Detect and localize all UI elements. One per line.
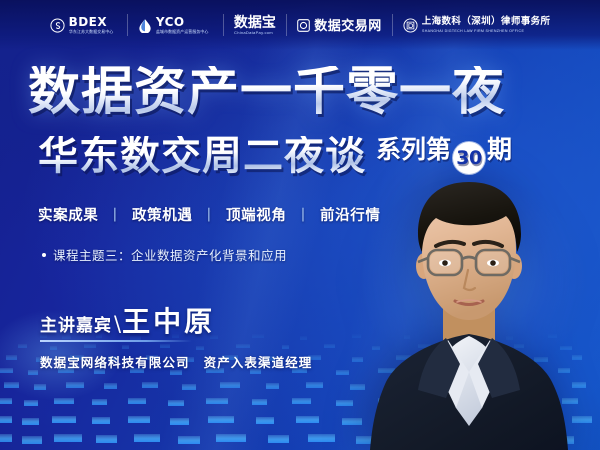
tag-item: 顶端视角	[226, 204, 286, 225]
shujubao-wordmark-icon: 数据宝	[234, 15, 276, 29]
poster-subheadline: 华东数交周二夜谈 系列第30期	[38, 136, 512, 176]
speaker-divider	[40, 340, 192, 342]
topic-tag-list: 实案成果 丨 政策机遇 丨 顶端视角 丨 前沿行情	[38, 204, 380, 225]
course-topic: 课程主题三：企业数据资产化背景和应用	[42, 245, 287, 264]
speaker-name: 王中原	[122, 300, 215, 340]
speaker-block: 主讲嘉宾 \ 王中原	[40, 300, 215, 340]
series-suffix: 期	[487, 135, 512, 164]
bullet-dot-icon	[42, 253, 46, 257]
tag-item: 政策机遇	[132, 204, 192, 225]
tag-item: 前沿行情	[320, 204, 380, 225]
logo-shujubao: 数据宝 ChinaDataPay.com	[224, 8, 286, 42]
webinar-poster: BDEX 华东江苏大数据交易中心 YCO 盐城市数据资产运营服务中心 数据宝 C…	[0, 0, 600, 450]
logo-bdex-name: BDEX	[69, 16, 117, 28]
partner-logo-bar: BDEX 华东江苏大数据交易中心 YCO 盐城市数据资产运营服务中心 数据宝 C…	[0, 0, 600, 50]
logo-law-firm-sub: SHANGHAI DIGTECH LAW FIRM SHENZHEN OFFIC…	[422, 29, 540, 33]
tag-item: 实案成果	[38, 204, 98, 225]
logo-bdex: BDEX 华东江苏大数据交易中心	[40, 8, 127, 42]
speaker-role: 资产入表渠道经理	[204, 355, 313, 370]
episode-number-badge: 30	[453, 142, 485, 174]
logo-yco: YCO 盐城市数据资产运营服务中心	[128, 8, 223, 42]
speaker-company: 数据宝网络科技有限公司	[40, 355, 190, 370]
series-label: 系列第30期	[376, 137, 512, 177]
yco-droplet-logo-icon	[138, 18, 152, 33]
tag-separator: 丨	[107, 204, 123, 225]
poster-headline: 数据资产一千零一夜	[28, 66, 505, 118]
logo-bdex-sub: 华东江苏大数据交易中心	[69, 30, 113, 34]
speaker-portrait	[360, 158, 578, 450]
digtech-law-firm-icon	[403, 18, 418, 33]
course-topic-text: 课程主题三：企业数据资产化背景和应用	[53, 245, 287, 264]
logo-yco-sub: 盐城市数据资产运营服务中心	[156, 30, 208, 34]
logo-data-exchange: 数据交易网	[287, 8, 392, 42]
speaker-label: 主讲嘉宾	[40, 311, 112, 336]
tag-separator: 丨	[295, 204, 311, 225]
program-name: 华东数交周二夜谈	[38, 136, 366, 176]
tag-separator: 丨	[201, 204, 217, 225]
logo-shujubao-sub: ChinaDataPay.com	[234, 31, 273, 35]
data-exchange-square-icon	[297, 19, 310, 32]
speaker-affiliation: 数据宝网络科技有限公司资产入表渠道经理	[40, 352, 312, 371]
logo-data-exchange-name: 数据交易网	[314, 19, 382, 32]
logo-law-firm-name: 上海数科（深圳）律师事务所	[422, 17, 551, 27]
speaker-slash: \	[114, 312, 121, 336]
bdex-circle-logo-icon	[50, 18, 65, 33]
logo-yco-name: YCO	[156, 16, 213, 28]
series-prefix: 系列第	[376, 135, 451, 164]
logo-law-firm: 上海数科（深圳）律师事务所 SHANGHAI DIGTECH LAW FIRM …	[393, 8, 561, 42]
